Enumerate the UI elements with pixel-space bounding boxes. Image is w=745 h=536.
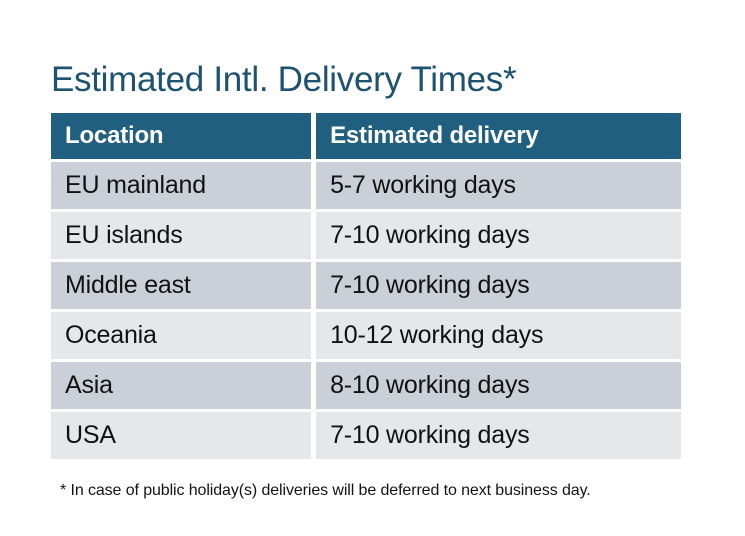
table-header-row: Location Estimated delivery [51, 113, 681, 159]
table-row: EU islands 7-10 working days [51, 212, 681, 259]
delivery-times-page: Estimated Intl. Delivery Times* Location… [0, 0, 745, 536]
cell-delivery: 7-10 working days [316, 412, 681, 459]
page-title: Estimated Intl. Delivery Times* [51, 59, 516, 101]
column-header-location: Location [51, 113, 311, 159]
cell-location: Middle east [51, 262, 311, 309]
cell-location: EU mainland [51, 162, 311, 209]
cell-location: Oceania [51, 312, 311, 359]
column-header-delivery: Estimated delivery [316, 113, 681, 159]
table-row: Oceania 10-12 working days [51, 312, 681, 359]
table-header: Location Estimated delivery [51, 113, 681, 159]
table-body: EU mainland 5-7 working days EU islands … [51, 162, 681, 459]
table-row: EU mainland 5-7 working days [51, 162, 681, 209]
cell-delivery: 10-12 working days [316, 312, 681, 359]
cell-location: USA [51, 412, 311, 459]
cell-delivery: 7-10 working days [316, 212, 681, 259]
table-row: USA 7-10 working days [51, 412, 681, 459]
cell-location: Asia [51, 362, 311, 409]
delivery-times-table: Location Estimated delivery EU mainland … [46, 110, 686, 462]
footnote-text: * In case of public holiday(s) deliverie… [60, 481, 591, 501]
table-row: Asia 8-10 working days [51, 362, 681, 409]
cell-delivery: 7-10 working days [316, 262, 681, 309]
cell-delivery: 5-7 working days [316, 162, 681, 209]
cell-delivery: 8-10 working days [316, 362, 681, 409]
cell-location: EU islands [51, 212, 311, 259]
table-row: Middle east 7-10 working days [51, 262, 681, 309]
